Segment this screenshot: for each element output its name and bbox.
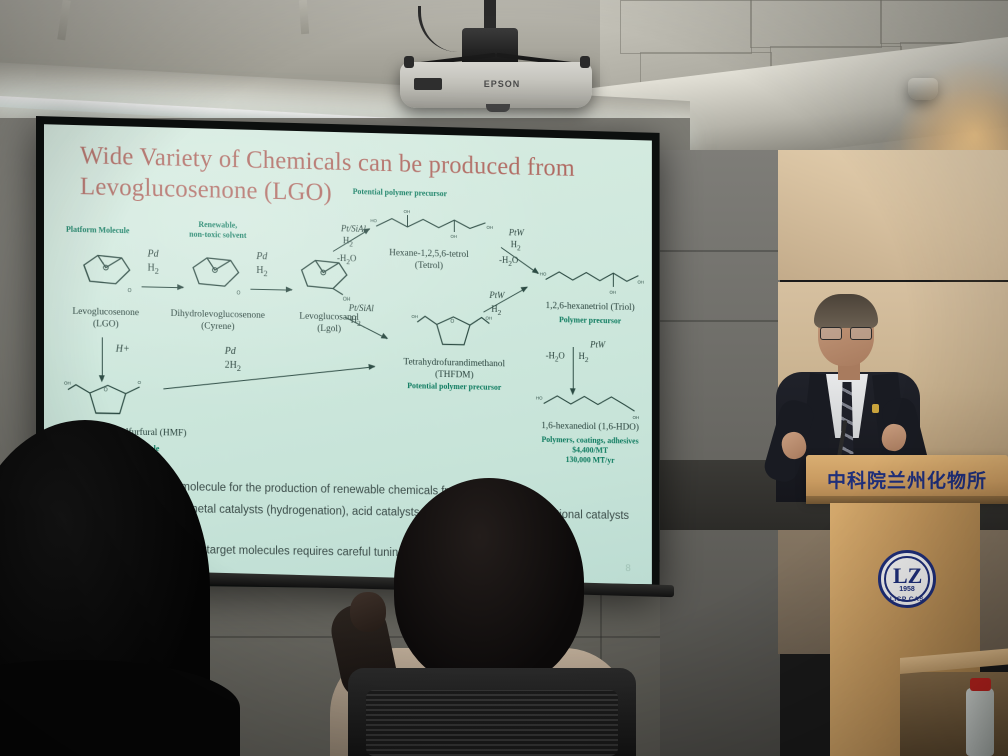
svg-text:OH: OH [450, 234, 457, 239]
svg-text:O: O [237, 290, 241, 296]
logo-year: 1958 [884, 586, 930, 593]
svg-text:OH: OH [411, 314, 418, 319]
ceiling-tile [620, 0, 752, 54]
reaction-arrow-2 [250, 289, 291, 291]
ceiling-tile [880, 0, 1008, 44]
condition-7-reductant: H2 [579, 351, 589, 364]
audience-chair-mesh-back [366, 690, 618, 756]
annotation-platform-molecule: Platform Molecule [66, 225, 129, 235]
svg-text:OH: OH [64, 381, 71, 386]
projector-vent [414, 78, 442, 90]
reaction-arrow-7 [573, 347, 574, 388]
projector-lens [486, 104, 510, 112]
water-bottle [966, 688, 994, 756]
svg-text:O: O [138, 380, 142, 385]
condition-2-catalyst: Pd [256, 251, 267, 262]
condition-7-loss: -H2O [546, 350, 565, 363]
annotation-renewable-l2: non-toxic solvent [173, 229, 262, 240]
wall-column [660, 150, 780, 756]
reaction-arrow-1 [142, 286, 184, 288]
triol-structure: HO OH OH [540, 264, 644, 302]
svg-text:OH: OH [633, 415, 639, 420]
compound-thfdm-name: Tetrahydrofurandimethanol [378, 357, 530, 370]
svg-text:OH: OH [609, 290, 615, 295]
annotation-polymer-precursor: Polymer precursor [528, 315, 652, 326]
compound-thfdm-abbr: (THFDM) [378, 369, 530, 382]
wall-panel-warm-upper [778, 150, 1008, 280]
condition-7-catalyst: PtW [590, 339, 605, 349]
slide-title: Wide Variety of Chemicals can be produce… [80, 141, 629, 215]
condition-6-catalyst: PtW [489, 290, 504, 300]
reaction-arrow-8 [163, 366, 374, 389]
condition-8-catalyst: Pd [225, 346, 236, 357]
condition-3-loss: -H2O [337, 253, 356, 266]
condition-5-catalyst: PtW [509, 227, 524, 237]
projector-foot [404, 56, 414, 68]
annotation-potential-polymer-precursor-thfdm: Potential polymer precursor [378, 381, 530, 393]
ceiling-tile [750, 0, 882, 48]
svg-text:O: O [104, 387, 108, 393]
audience-member-center-hand [350, 592, 386, 632]
cyrene-structure: O [185, 245, 248, 304]
svg-text:OH: OH [404, 209, 411, 214]
wall-panel-line [660, 250, 780, 252]
compound-lgo-name: Levoglucosenone [58, 306, 154, 318]
svg-text:HO: HO [540, 271, 547, 276]
logo-english-text: LICP CAS [878, 596, 936, 603]
hdo-structure: HO OH [536, 390, 642, 423]
water-bottle-cap [970, 678, 991, 691]
condition-8-reductant: 2H2 [225, 360, 241, 373]
compound-hdo-name: 1,6-hexanediol (1,6-HDO) [524, 421, 652, 433]
compound-lgo-abbr: (LGO) [58, 318, 154, 330]
compound-cyrene-abbr: (Cyrene) [155, 321, 280, 334]
slide-number: 8 [625, 563, 630, 574]
compound-tetrol-name: Hexane-1,2,5,6-tetrol [366, 248, 491, 261]
condition-9-acid: H+ [116, 344, 130, 355]
condition-5-reductant: H2 [511, 239, 521, 252]
reaction-arrow-9 [102, 337, 103, 375]
condition-2-reductant: H2 [256, 265, 267, 278]
lgo-structure: O [76, 243, 140, 302]
svg-text:O: O [450, 319, 454, 325]
svg-text:OH: OH [637, 280, 643, 285]
logo-monogram: LZ [893, 565, 922, 587]
compound-triol-name: 1,2,6-hexanetriol (Triol) [528, 301, 652, 314]
market-volume: 130,000 MT/yr [520, 454, 651, 465]
speaker-glasses-icon [820, 327, 872, 338]
svg-text:OH: OH [486, 225, 493, 230]
compound-cyrene-name: Dihydrolevoglucosenone [155, 309, 280, 322]
wall-panel-line [660, 320, 780, 322]
compound-tetrol-abbr: (Tetrol) [366, 260, 491, 273]
svg-text:HO: HO [370, 218, 377, 223]
compound-lgol-name: Levoglucosanol [282, 311, 376, 323]
projector-brand-label: EPSON [472, 79, 532, 89]
tetrol-structure: HO OH OH OH [370, 206, 497, 249]
svg-text:O: O [128, 288, 132, 294]
audience-member-center-head [394, 478, 584, 688]
condition-4-catalyst: Pt/SiAl [349, 303, 374, 313]
projector-foot [580, 56, 590, 68]
speaker-lapel-pin [872, 404, 879, 413]
svg-text:HO: HO [536, 395, 543, 400]
condition-1-reductant: H2 [148, 263, 159, 276]
condition-1-catalyst: Pd [148, 249, 159, 260]
lecture-hall-photo: EPSON Wide Variety of Chemicals can be p… [0, 0, 1008, 756]
podium-venue-sign: 中科院兰州化物所 [812, 466, 1002, 493]
